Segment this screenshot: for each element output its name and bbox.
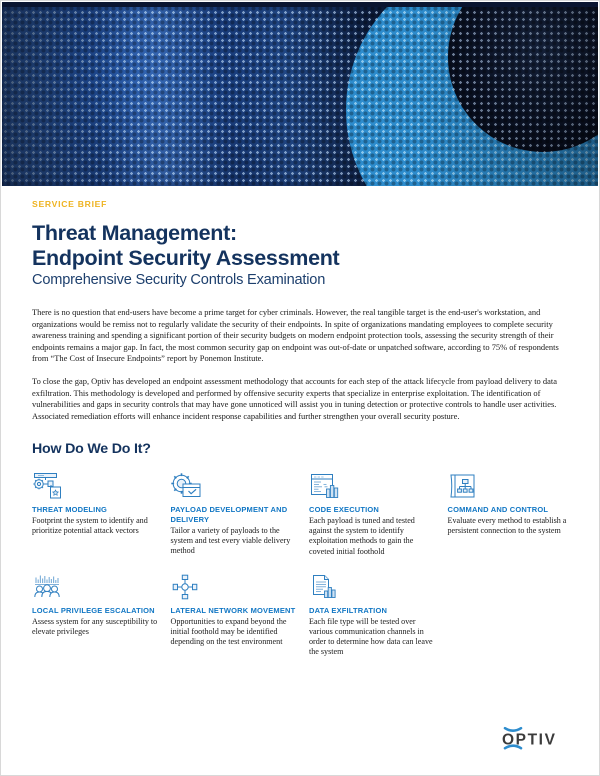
feature-description: Opportunities to expand beyond the initi… [171, 617, 297, 647]
document-content: SERVICE BRIEF Threat Management: Endpoin… [32, 199, 573, 657]
feature-title: DATA EXFILTRATION [309, 606, 435, 615]
payload-development-icon [171, 470, 297, 500]
feature-description: Each payload is tuned and tested against… [309, 516, 435, 556]
feature-title: THREAT MODELING [32, 505, 158, 514]
hero-banner [2, 2, 598, 186]
feature-item-threat-modeling: THREAT MODELING Footprint the system to … [32, 470, 158, 556]
page-title: Threat Management: Endpoint Security Ass… [32, 221, 573, 270]
optiv-logo: OPTIV [501, 723, 573, 753]
page-subtitle: Comprehensive Security Controls Examinat… [32, 271, 573, 289]
intro-paragraph-2: To close the gap, Optiv has developed an… [32, 376, 573, 422]
feature-item-code-execution: CODE EXECUTION Each payload is tuned and… [309, 470, 435, 556]
feature-item-lateral-network-movement: LATERAL NETWORK MOVEMENT Opportunities t… [171, 571, 297, 657]
feature-title: LOCAL PRIVILEGE ESCALATION [32, 606, 158, 615]
feature-title: CODE EXECUTION [309, 505, 435, 514]
optiv-logo-mark: OPTIV [501, 723, 573, 753]
lateral-network-movement-icon [171, 571, 297, 601]
feature-description: Each file type will be tested over vario… [309, 617, 435, 657]
feature-item-payload-development: PAYLOAD DEVELOPMENT AND DELIVERY Tailor … [171, 470, 297, 556]
feature-description: Evaluate every method to establish a per… [448, 516, 574, 536]
feature-item-data-exfiltration: DATA EXFILTRATION Each file type will be… [309, 571, 435, 657]
feature-description: Footprint the system to identify and pri… [32, 516, 158, 536]
threat-modeling-icon [32, 470, 158, 500]
hero-vignette [2, 2, 598, 186]
eyebrow-label: SERVICE BRIEF [32, 199, 573, 209]
section-heading: How Do We Do It? [32, 441, 573, 457]
feature-description: Assess system for any susceptibility to … [32, 617, 158, 637]
page-title-line-2: Endpoint Security Assessment [32, 246, 573, 271]
feature-item-command-and-control: COMMAND AND CONTROL Evaluate every metho… [448, 470, 574, 556]
service-brief-page: SERVICE BRIEF Threat Management: Endpoin… [0, 0, 600, 776]
feature-title: PAYLOAD DEVELOPMENT AND DELIVERY [171, 505, 297, 524]
intro-paragraph-1: There is no question that end-users have… [32, 307, 573, 365]
methodology-grid: THREAT MODELING Footprint the system to … [32, 470, 573, 657]
feature-title: COMMAND AND CONTROL [448, 505, 574, 514]
feature-title: LATERAL NETWORK MOVEMENT [171, 606, 297, 615]
local-privilege-escalation-icon [32, 571, 158, 601]
data-exfiltration-icon [309, 571, 435, 601]
optiv-wordmark: OPTIV [502, 732, 557, 749]
page-title-line-1: Threat Management: [32, 221, 237, 245]
hero-top-edge [2, 2, 598, 7]
code-execution-icon [309, 470, 435, 500]
command-and-control-icon [448, 470, 574, 500]
feature-description: Tailor a variety of payloads to the syst… [171, 526, 297, 556]
feature-item-local-privilege-escalation: LOCAL PRIVILEGE ESCALATION Assess system… [32, 571, 158, 657]
